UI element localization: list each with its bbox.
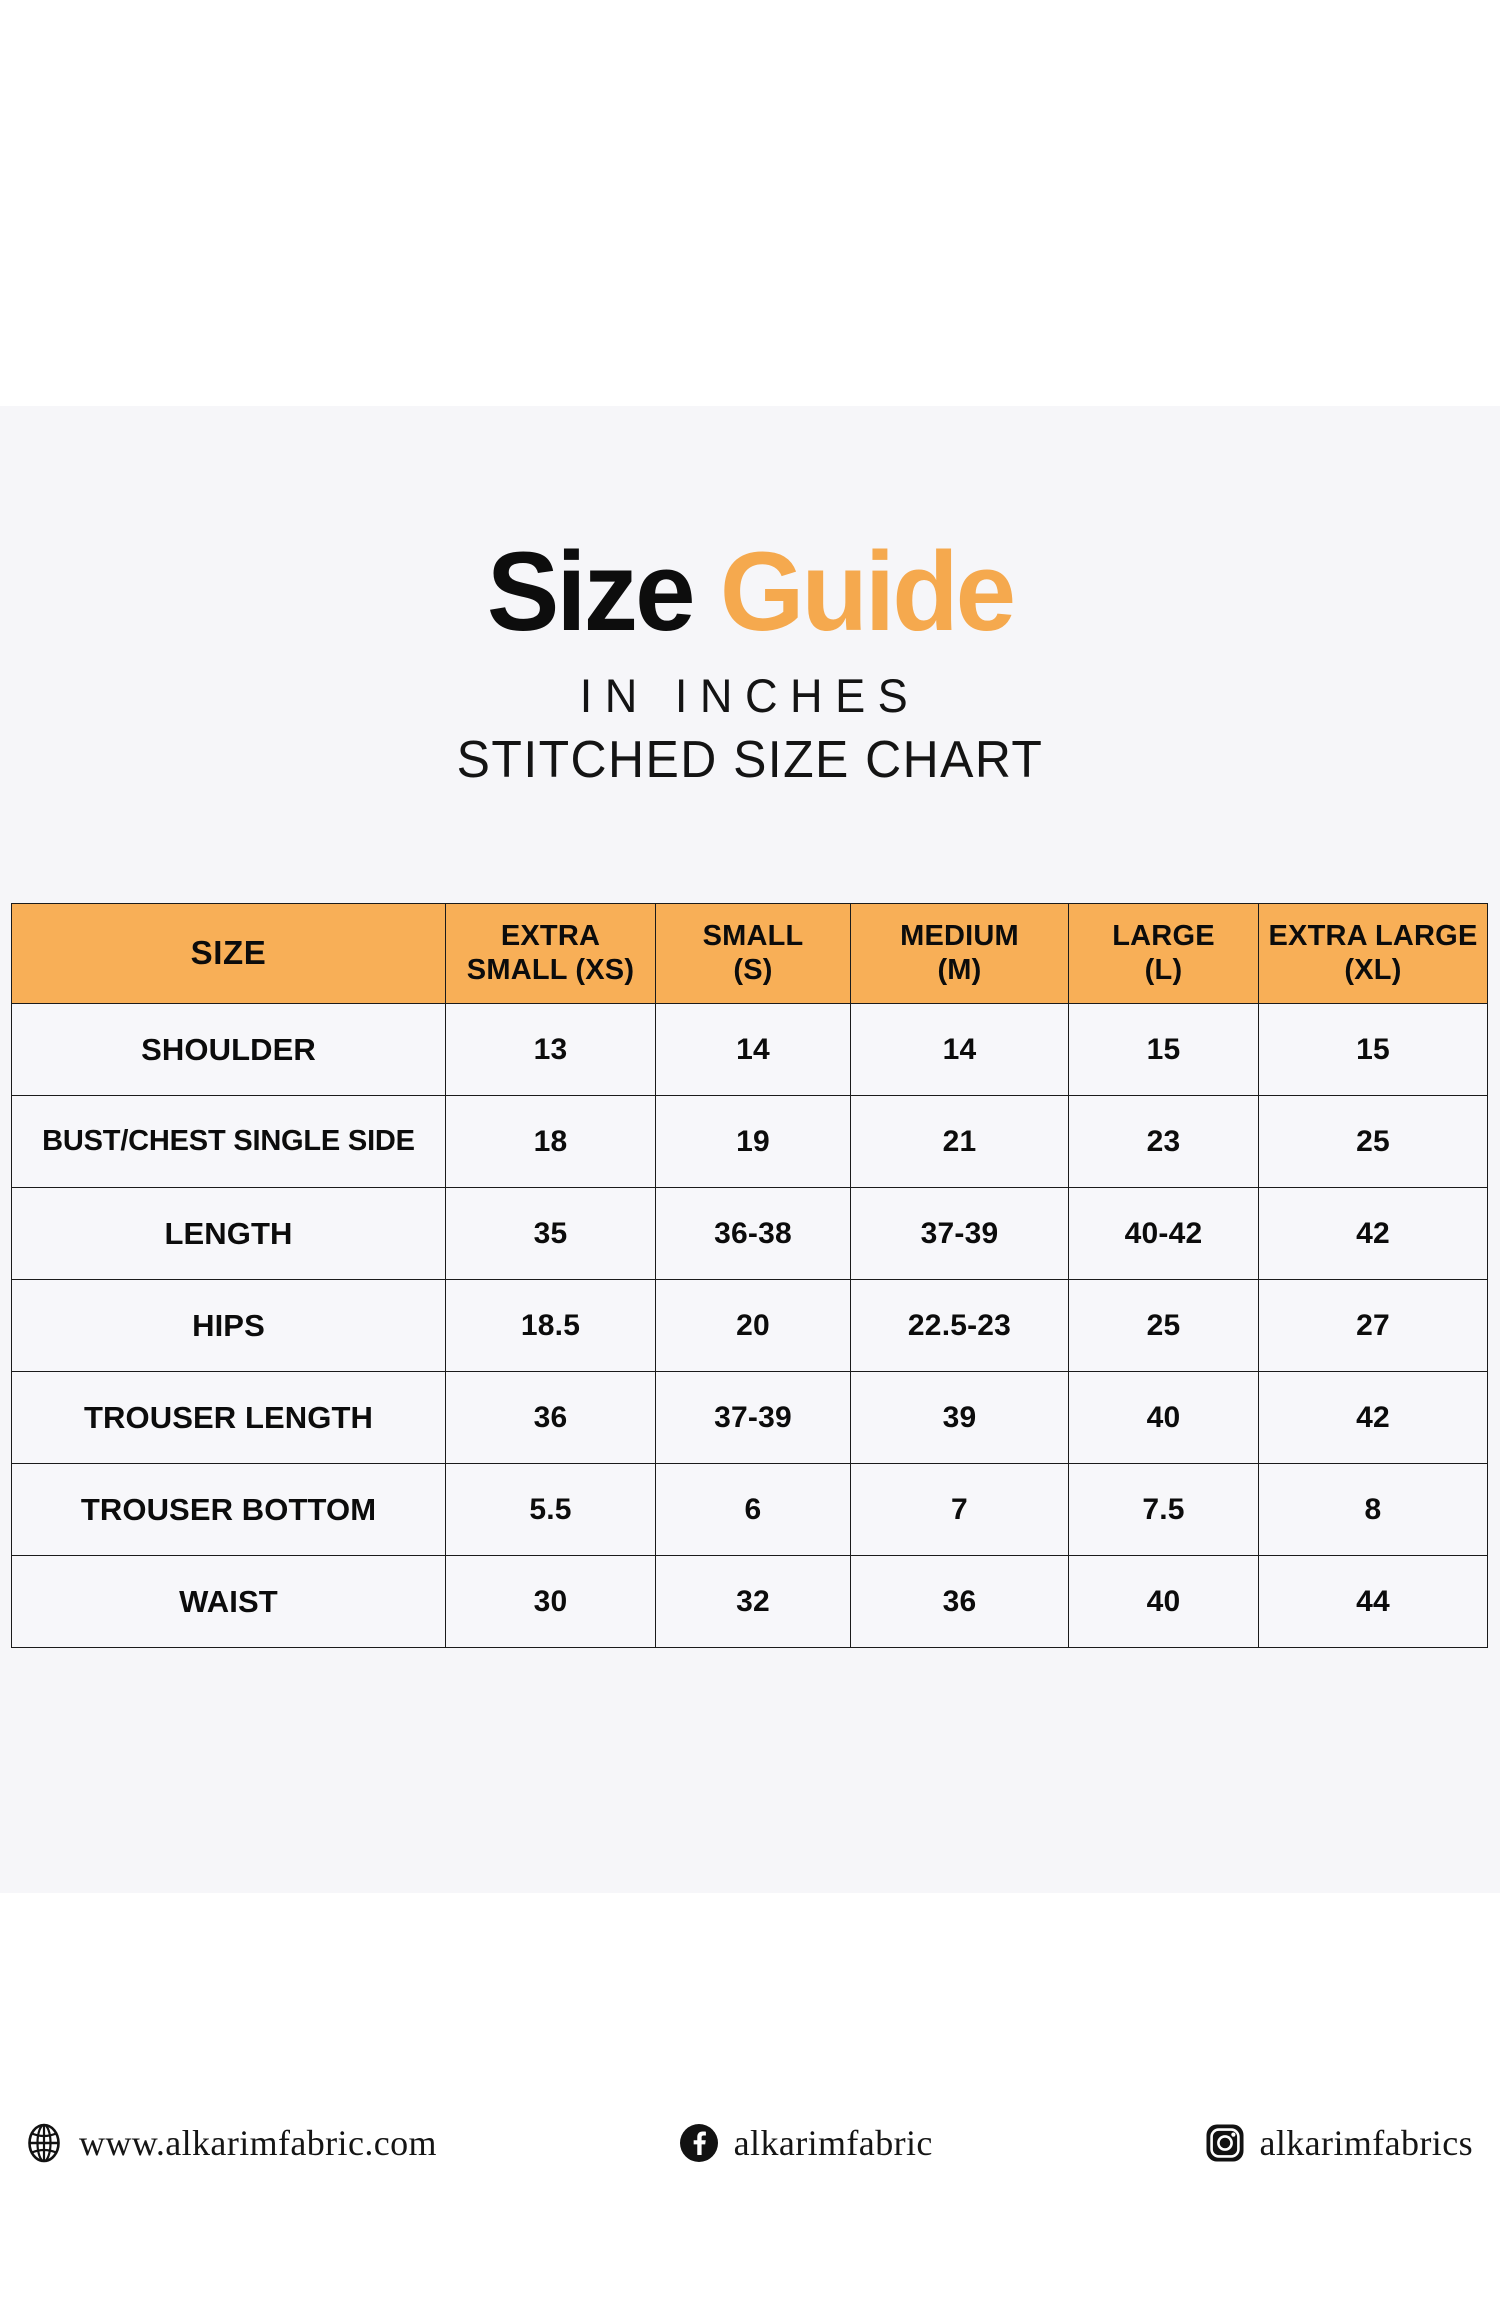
cell-bust-m: 21 [851,1096,1069,1188]
column-header-l: LARGE (L) [1069,904,1259,1004]
column-header-l-line2: (L) [1073,954,1254,988]
column-header-xl: EXTRA LARGE (XL) [1259,904,1488,1004]
footer-facebook[interactable]: alkarimfabric [437,2122,1204,2164]
title-block: Size Guide IN INCHES STITCHED SIZE CHART [0,536,1500,789]
column-header-xs-line1: EXTRA [501,920,600,952]
footer-instagram-label: alkarimfabrics [1260,2122,1474,2164]
column-header-xs: EXTRA SMALL (XS) [446,904,656,1004]
cell-hips-xs: 18.5 [446,1280,656,1372]
cell-trouser-length-xl: 42 [1259,1372,1488,1464]
cell-waist-xl: 44 [1259,1556,1488,1648]
subtitle-chart: STITCHED SIZE CHART [30,732,1470,789]
cell-waist-l: 40 [1069,1556,1259,1648]
column-header-xs-line2: SMALL (XS) [450,954,651,988]
table-row: LENGTH 35 36-38 37-39 40-42 42 [12,1188,1488,1280]
cell-trouser-length-l: 40 [1069,1372,1259,1464]
cell-hips-xl: 27 [1259,1280,1488,1372]
column-header-xl-line2: (XL) [1263,954,1483,988]
table-row: TROUSER LENGTH 36 37-39 39 40 42 [12,1372,1488,1464]
cell-shoulder-l: 15 [1069,1004,1259,1096]
cell-bust-xl: 25 [1259,1096,1488,1188]
cell-bust-l: 23 [1069,1096,1259,1188]
column-header-m: MEDIUM (M) [851,904,1069,1004]
cell-length-l: 40-42 [1069,1188,1259,1280]
cell-trouser-length-m: 39 [851,1372,1069,1464]
page-title-guide: Guide [720,529,1013,654]
column-header-s: SMALL (S) [656,904,851,1004]
footer-bar: www.alkarimfabric.com alkarimfabric [11,2088,1487,2198]
cell-length-m: 37-39 [851,1188,1069,1280]
cell-waist-m: 36 [851,1556,1069,1648]
cell-hips-s: 20 [656,1280,851,1372]
facebook-icon [678,2122,720,2164]
footer-website[interactable]: www.alkarimfabric.com [23,2122,437,2164]
subtitle-units: IN INCHES [30,670,1470,722]
column-header-size: SIZE [12,904,446,1004]
cell-trouser-bottom-xl: 8 [1259,1464,1488,1556]
cell-trouser-length-s: 37-39 [656,1372,851,1464]
cell-length-xs: 35 [446,1188,656,1280]
table-row: WAIST 30 32 36 40 44 [12,1556,1488,1648]
table-header-row: SIZE EXTRA SMALL (XS) SMALL (S) MEDIUM (… [12,904,1488,1004]
column-header-m-line2: (M) [855,954,1064,988]
content-card: Size Guide IN INCHES STITCHED SIZE CHART… [0,406,1500,1893]
page-title-size: Size [487,529,693,654]
column-header-s-line2: (S) [660,954,846,988]
cell-trouser-bottom-m: 7 [851,1464,1069,1556]
footer-website-label: www.alkarimfabric.com [79,2122,437,2164]
size-chart-table: SIZE EXTRA SMALL (XS) SMALL (S) MEDIUM (… [11,903,1488,1648]
row-label-trouser-bottom: TROUSER BOTTOM [12,1464,446,1556]
table-row: BUST/CHEST SINGLE SIDE 18 19 21 23 25 [12,1096,1488,1188]
cell-shoulder-m: 14 [851,1004,1069,1096]
size-chart-table-wrapper: SIZE EXTRA SMALL (XS) SMALL (S) MEDIUM (… [11,903,1487,1648]
table-row: HIPS 18.5 20 22.5-23 25 27 [12,1280,1488,1372]
instagram-icon [1204,2122,1246,2164]
row-label-hips: HIPS [12,1280,446,1372]
cell-length-xl: 42 [1259,1188,1488,1280]
cell-hips-l: 25 [1069,1280,1259,1372]
cell-shoulder-s: 14 [656,1004,851,1096]
table-row: TROUSER BOTTOM 5.5 6 7 7.5 8 [12,1464,1488,1556]
column-header-s-line1: SMALL [703,920,804,952]
table-header: SIZE EXTRA SMALL (XS) SMALL (S) MEDIUM (… [12,904,1488,1004]
row-label-shoulder: SHOULDER [12,1004,446,1096]
cell-trouser-bottom-s: 6 [656,1464,851,1556]
cell-bust-s: 19 [656,1096,851,1188]
globe-icon [23,2122,65,2164]
page-title: Size Guide [23,536,1478,648]
footer-facebook-label: alkarimfabric [734,2122,933,2164]
column-header-l-line1: LARGE [1112,920,1215,952]
cell-waist-s: 32 [656,1556,851,1648]
row-label-bust-chest: BUST/CHEST SINGLE SIDE [12,1096,446,1188]
row-label-waist: WAIST [12,1556,446,1648]
cell-waist-xs: 30 [446,1556,656,1648]
cell-bust-xs: 18 [446,1096,656,1188]
column-header-m-line1: MEDIUM [900,920,1019,952]
column-header-xl-line1: EXTRA LARGE [1269,920,1478,952]
table-row: SHOULDER 13 14 14 15 15 [12,1004,1488,1096]
table-body: SHOULDER 13 14 14 15 15 BUST/CHEST SINGL… [12,1004,1488,1648]
cell-trouser-length-xs: 36 [446,1372,656,1464]
cell-shoulder-xs: 13 [446,1004,656,1096]
cell-trouser-bottom-xs: 5.5 [446,1464,656,1556]
column-header-size-line1: SIZE [191,934,267,971]
footer-instagram[interactable]: alkarimfabrics [1204,2122,1474,2164]
cell-hips-m: 22.5-23 [851,1280,1069,1372]
cell-shoulder-xl: 15 [1259,1004,1488,1096]
cell-length-s: 36-38 [656,1188,851,1280]
row-label-trouser-length: TROUSER LENGTH [12,1372,446,1464]
cell-trouser-bottom-l: 7.5 [1069,1464,1259,1556]
row-label-length: LENGTH [12,1188,446,1280]
